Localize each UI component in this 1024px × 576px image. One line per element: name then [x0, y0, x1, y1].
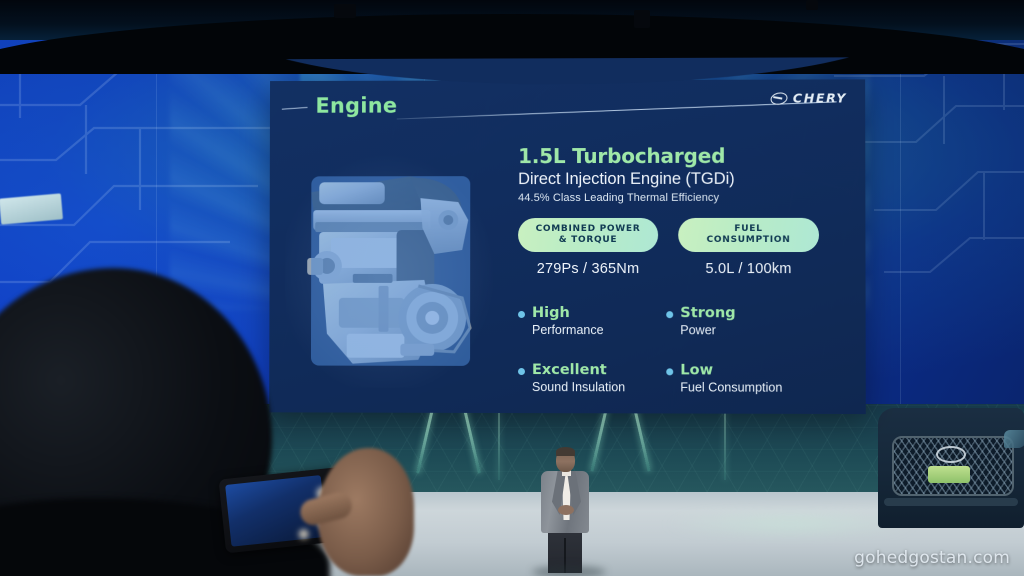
- engine-photo: [293, 158, 488, 380]
- feature-item: High Performance: [518, 305, 666, 337]
- license-plate: [928, 466, 970, 483]
- presentation-slide: Engine CHERY: [269, 79, 866, 414]
- spec-combined-power: COMBINED POWER & TORQUE 279Ps / 365Nm: [518, 218, 658, 277]
- bullet-dot-icon: [518, 311, 525, 318]
- feature-subtext: Performance: [532, 323, 666, 337]
- feature-list: High Performance Strong Power Excellent …: [518, 305, 850, 395]
- feature-headline: High: [532, 305, 666, 321]
- hero-note: 44.5% Class Leading Thermal Efficiency: [518, 192, 849, 204]
- spec-label-line1: FUEL: [734, 224, 762, 234]
- neon-accent-line: [724, 404, 726, 480]
- hero-title: 1.5L Turbocharged: [518, 144, 849, 169]
- ceiling-light-rig: [634, 10, 650, 28]
- slide-content: 1.5L Turbocharged Direct Injection Engin…: [518, 144, 850, 395]
- slide-header: Engine CHERY: [270, 79, 865, 128]
- bullet-dot-icon: [666, 311, 673, 318]
- bullet-dot-icon: [666, 368, 673, 375]
- vehicle-front-grille: [878, 408, 1024, 528]
- feature-subtext: Sound Insulation: [532, 380, 666, 394]
- presentation-photo: Engine CHERY: [0, 0, 1024, 576]
- venue-ceiling: [0, 0, 1024, 40]
- spec-value: 5.0L / 100km: [678, 261, 819, 277]
- headlamp: [1004, 430, 1024, 448]
- spec-fuel-consumption: FUEL CONSUMPTION 5.0L / 100km: [678, 218, 819, 277]
- chery-oval-emblem-icon: [770, 90, 789, 105]
- feature-headline: Excellent: [532, 362, 666, 378]
- spec-badges: COMBINED POWER & TORQUE 279Ps / 365Nm FU…: [518, 218, 849, 277]
- feature-item: Strong Power: [666, 305, 815, 337]
- neon-accent-line: [498, 404, 500, 480]
- site-watermark: gohedgostan.com: [854, 548, 1010, 568]
- feature-item: Excellent Sound Insulation: [518, 362, 666, 394]
- feature-item: Low Fuel Consumption: [666, 362, 815, 395]
- chery-car-emblem-icon: [936, 446, 966, 463]
- brand-name: CHERY: [793, 90, 847, 105]
- spec-value: 279Ps / 365Nm: [518, 261, 658, 277]
- brand-logo: CHERY: [771, 90, 847, 105]
- ceiling-light-rig: [806, 0, 818, 10]
- spec-badge-label: FUEL CONSUMPTION: [678, 218, 819, 252]
- feature-headline: Low: [680, 362, 815, 378]
- ceiling-light-rig: [334, 4, 356, 18]
- foreground-device: [0, 193, 63, 224]
- spec-label-line1: COMBINED POWER: [536, 224, 641, 234]
- spec-label-line2: & TORQUE: [559, 235, 617, 245]
- hero-subtitle: Direct Injection Engine (TGDi): [518, 170, 849, 189]
- led-panel-seam: [900, 18, 901, 458]
- bullet-dot-icon: [518, 368, 525, 375]
- header-accent-dash: [282, 107, 308, 110]
- feature-headline: Strong: [680, 305, 815, 321]
- spec-badge-label: COMBINED POWER & TORQUE: [518, 218, 658, 252]
- feature-subtext: Power: [680, 323, 815, 337]
- slide-title: Engine: [315, 94, 397, 118]
- spec-label-line2: CONSUMPTION: [707, 235, 791, 245]
- feature-subtext: Fuel Consumption: [680, 380, 815, 394]
